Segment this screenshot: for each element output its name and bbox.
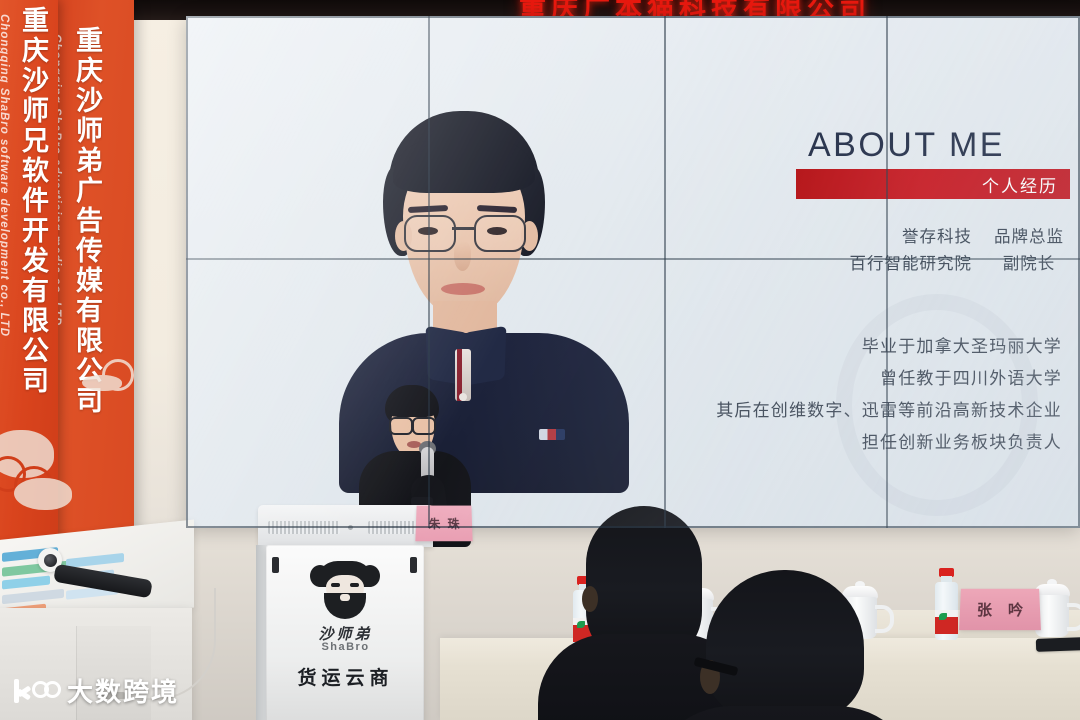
panel-bezel: [886, 16, 888, 528]
watermark: 大数跨境: [14, 672, 179, 709]
panel-bezel: [186, 258, 1080, 260]
podium-name-char-2: 珠: [447, 515, 459, 532]
credential-role: 副院长: [986, 250, 1072, 274]
slide-subtitle: 个人经历: [982, 172, 1058, 197]
podium: 沙师弟 ShaBro 货运云商: [258, 505, 433, 720]
credential-org: 百行智能研究院: [746, 250, 986, 274]
cloud-motif-large-icon: [0, 420, 78, 510]
podium-name-card: 朱 珠: [415, 506, 472, 542]
shabro-face-logo-icon: [312, 561, 378, 619]
slide-ghost-watermark: [836, 294, 1038, 516]
speaker-glasses-icon: [389, 417, 413, 435]
audience-member: [586, 506, 702, 656]
table-name-card: 张 吟: [959, 589, 1041, 630]
smartphone[interactable]: [1036, 637, 1080, 652]
dashukuajing-logo-icon: [14, 677, 58, 705]
panel-bezel: [428, 16, 430, 528]
credential-role: 品牌总监: [986, 223, 1072, 247]
polo-brand-logo-icon: [539, 429, 565, 440]
cloud-motif-icon: [88, 355, 148, 415]
water-bottle: [934, 568, 960, 642]
credential-row: 百行智能研究院 副院长: [746, 250, 1072, 274]
audience-member: [706, 570, 864, 720]
vertical-banner-software: 重庆沙师兄软件开发有限公司 Chongqing ShaBro software …: [0, 0, 58, 560]
table-name-char-1: 张: [977, 599, 992, 620]
banner-software-en: Chongqing ShaBro software development co…: [0, 14, 10, 337]
slide-subtitle-band: 个人经历: [796, 169, 1070, 199]
panel-bezel: [664, 16, 666, 528]
watermark-text: 大数跨境: [67, 672, 179, 709]
slide-title: ABOUT ME: [808, 126, 1005, 165]
presentation-slide: ABOUT ME 个人经历 誉存科技 品牌总监 百行智能研究院 副院长 毕业于加…: [186, 16, 1080, 528]
podium-name-char-1: 朱: [428, 515, 440, 532]
podium-tagline: 货运云商: [258, 663, 433, 690]
credential-row: 誉存科技 品牌总监: [746, 223, 1072, 247]
credential-org: 誉存科技: [746, 223, 986, 247]
table-name-char-2: 吟: [1008, 599, 1023, 620]
podium-logo-en: ShaBro: [258, 641, 433, 653]
screenshot-root: 重庆广本猫科技有限公司 重庆沙师弟广告传媒有限公司 Chongqing ShaB…: [0, 0, 1080, 720]
led-video-wall: ABOUT ME 个人经历 誉存科技 品牌总监 百行智能研究院 副院长 毕业于加…: [186, 16, 1080, 528]
banner-software-cn: 重庆沙师兄软件开发有限公司: [14, 6, 53, 396]
